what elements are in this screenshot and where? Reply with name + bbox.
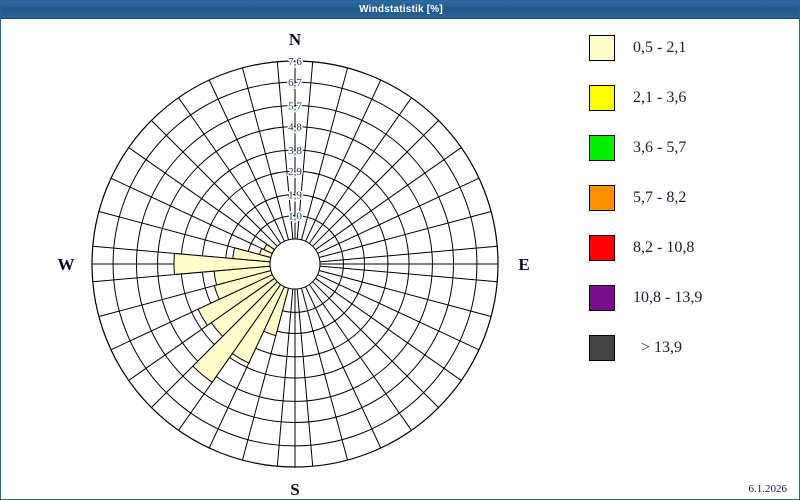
legend-item-label: 2,1 - 3,6 [633,89,686,107]
windstatistik-window: Windstatistik [%] 1,01,01,91,92,92,93,83… [0,0,800,500]
legend-color-swatch [589,285,615,311]
legend-color-swatch [589,335,615,361]
radial-tick-label: 2,9 [288,166,302,178]
legend-item[interactable]: 8,2 - 10,8 [589,223,794,273]
legend-color-swatch [589,135,615,161]
grid-spoke [301,68,347,240]
compass-label-north: N [289,30,302,49]
legend-item[interactable]: > 13,9 [589,323,794,373]
radial-tick-label: 6,7 [288,77,302,89]
window-title-bar: Windstatistik [%] [1,1,800,19]
grid-spoke [313,120,439,246]
grid-spoke [319,270,491,316]
compass-label-east: E [518,255,529,274]
grid-spoke [318,178,479,253]
legend-color-swatch [589,235,615,261]
grid-spoke [306,287,381,448]
legend-color-swatch [589,35,615,61]
legend-item-label: 5,7 - 8,2 [633,189,686,207]
radial-tick-label: 5,7 [288,101,302,113]
calm-circle [270,239,320,289]
grid-spoke [318,275,479,350]
calm-center-circle [270,239,320,289]
legend-color-swatch [589,185,615,211]
legend-item[interactable]: 5,7 - 8,2 [589,173,794,223]
grid-spoke [209,80,284,241]
legend-item-label: 8,2 - 10,8 [633,239,694,257]
compass-label-west: W [58,255,75,274]
legend-item[interactable]: 10,8 - 13,9 [589,273,794,323]
grid-spoke [301,288,347,460]
legend-item[interactable]: 0,5 - 2,1 [589,23,794,73]
date-stamp: 6.1.2026 [749,483,788,495]
grid-spoke [306,80,381,241]
window-title: Windstatistik [%] [359,1,443,18]
grid-spoke [242,68,288,240]
grid-spoke [111,178,272,253]
speed-class-legend: 0,5 - 2,12,1 - 3,63,6 - 5,75,7 - 8,28,2 … [589,23,794,373]
grid-spoke [319,211,491,257]
compass-label-south: S [290,480,299,499]
radial-tick-label: 1,9 [288,190,302,202]
legend-item-label: 3,6 - 5,7 [633,139,686,157]
legend-item-label: 10,8 - 13,9 [633,289,702,307]
radial-tick-label: 4,8 [288,122,302,134]
radial-tick-label: 3,8 [288,145,302,157]
legend-item[interactable]: 2,1 - 3,6 [589,73,794,123]
legend-item-label: > 13,9 [641,339,682,357]
radial-tick-label: 7,6 [288,56,302,68]
legend-item[interactable]: 3,6 - 5,7 [589,123,794,173]
radial-tick-label: 1,0 [288,211,302,223]
grid-spoke [151,120,277,246]
grid-spoke [313,282,439,408]
legend-item-label: 0,5 - 2,1 [633,39,686,57]
legend-color-swatch [589,85,615,111]
